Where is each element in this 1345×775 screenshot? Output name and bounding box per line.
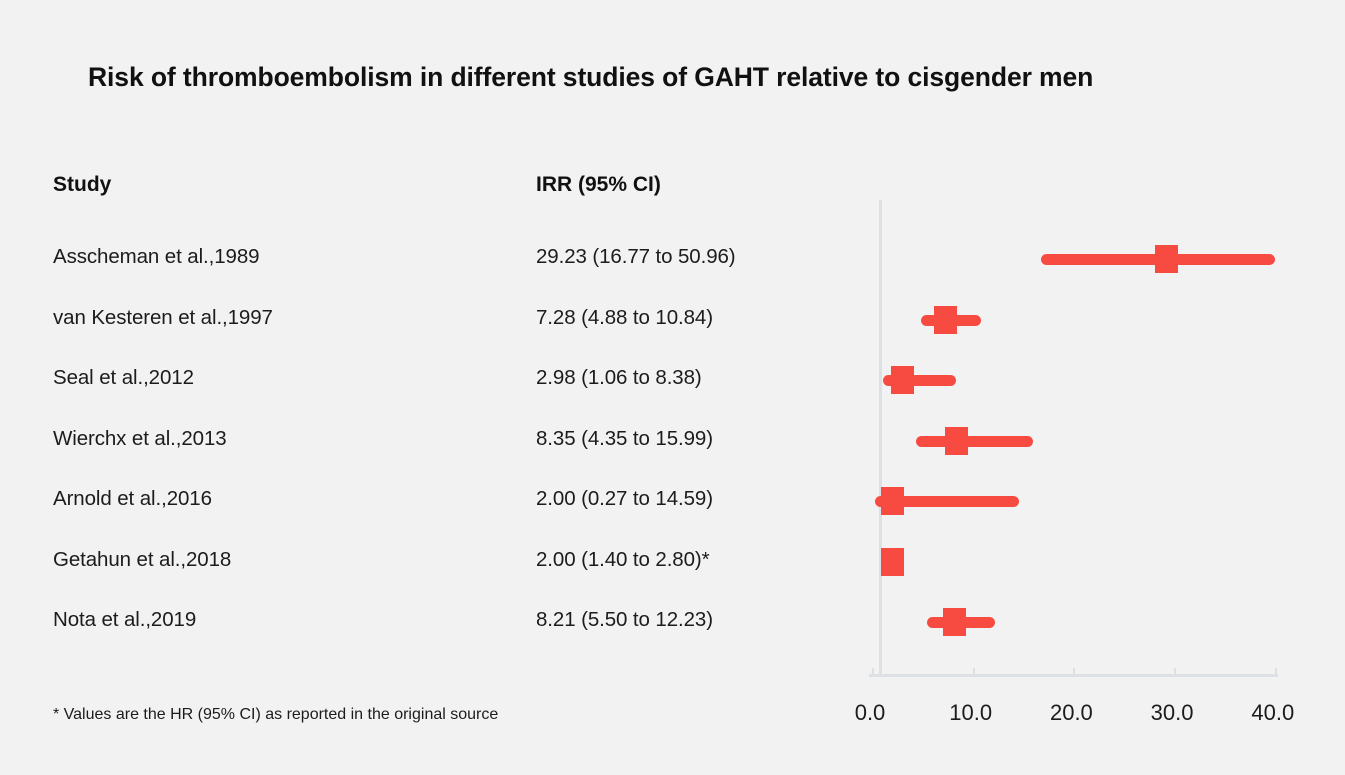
column-header-study: Study [53,173,111,197]
study-name-label: Nota et al.,2019 [53,608,196,632]
confidence-interval-bar [883,375,957,386]
confidence-interval-bar [886,557,900,568]
column-header-irr: IRR (95% CI) [536,173,661,197]
x-axis-tick-label: 20.0 [1050,700,1093,726]
study-irr-value: 7.28 (4.88 to 10.84) [536,306,713,330]
x-axis-tick-label: 10.0 [949,700,992,726]
confidence-interval-bar [927,617,995,628]
point-estimate-marker [891,366,914,394]
x-axis-tick [872,668,874,675]
point-estimate-marker [1155,245,1178,273]
axis-horizontal-line [869,674,1278,677]
x-axis-tick-label: 40.0 [1251,700,1294,726]
point-estimate-marker [934,306,957,334]
confidence-interval-bar [916,436,1033,447]
chart-title: Risk of thromboembolism in different stu… [88,62,1268,93]
confidence-interval-bar [921,315,981,326]
study-name-label: Getahun et al.,2018 [53,548,231,572]
x-axis-tick [1174,668,1176,675]
study-irr-value: 2.00 (1.40 to 2.80)* [536,548,710,572]
study-name-label: Asscheman et al.,1989 [53,245,259,269]
x-axis-tick [1275,668,1277,675]
x-axis-tick [1073,668,1075,675]
study-irr-value: 29.23 (16.77 to 50.96) [536,245,736,269]
x-axis-tick-label: 30.0 [1151,700,1194,726]
confidence-interval-bar [875,496,1019,507]
point-estimate-marker [945,427,968,455]
study-irr-value: 8.35 (4.35 to 15.99) [536,427,713,451]
study-irr-value: 8.21 (5.50 to 12.23) [536,608,713,632]
x-axis-tick-label: 0.0 [855,700,886,726]
study-irr-value: 2.00 (0.27 to 14.59) [536,487,713,511]
point-estimate-marker [943,608,966,636]
study-name-label: Seal et al.,2012 [53,366,194,390]
study-irr-value: 2.98 (1.06 to 8.38) [536,366,702,390]
confidence-interval-bar [1041,254,1275,265]
study-name-label: van Kesteren et al.,1997 [53,306,273,330]
point-estimate-marker [881,487,904,515]
point-estimate-marker [881,548,904,576]
footnote: * Values are the HR (95% CI) as reported… [53,706,498,724]
forest-plot-figure: Risk of thromboembolism in different stu… [0,0,1345,775]
study-name-label: Arnold et al.,2016 [53,487,212,511]
study-name-label: Wierchx et al.,2013 [53,427,227,451]
axis-vertical-line [879,200,882,677]
x-axis-tick [973,668,975,675]
